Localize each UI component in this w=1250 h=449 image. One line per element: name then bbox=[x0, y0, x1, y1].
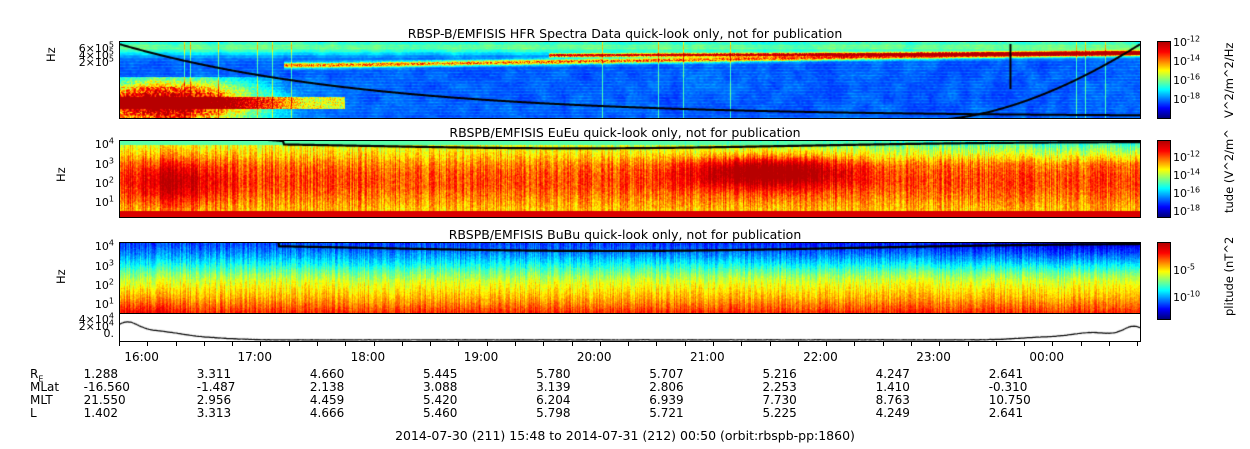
panel-eueu-ytick-0: 104 bbox=[66, 140, 114, 150]
x-tick-label: 20:00 bbox=[560, 350, 628, 364]
ephemeris-cell: 5.445 bbox=[423, 367, 495, 381]
colorbar-eueu-tick-2: 10-16 bbox=[1173, 189, 1217, 199]
ephemeris-cell: 10.750 bbox=[989, 393, 1061, 407]
x-tick-minor bbox=[119, 342, 120, 346]
colorbar-bubu-tick-1: 10-10 bbox=[1173, 293, 1217, 303]
colorbar-bubu bbox=[1157, 242, 1171, 320]
x-tick-label: 16:00 bbox=[108, 350, 176, 364]
ephemeris-cell: 3.139 bbox=[536, 380, 608, 394]
colorbar-hfr-tick-2: 10-16 bbox=[1173, 76, 1217, 86]
x-tick-minor bbox=[741, 342, 742, 346]
x-tick-label: 22:00 bbox=[786, 350, 854, 364]
ephemeris-cell: 5.420 bbox=[423, 393, 495, 407]
x-tick-minor bbox=[458, 342, 459, 346]
colorbar-eueu-tick-3: 10-18 bbox=[1173, 207, 1217, 217]
colorbar-eueu-tick-1: 10-14 bbox=[1173, 171, 1217, 181]
panel-title-bubu: RBSPB/EMFISIS BuBu quick-look only, not … bbox=[0, 227, 1250, 242]
panel-title-hfr: RBSP-B/EMFISIS HFR Spectra Data quick-lo… bbox=[0, 26, 1250, 41]
ephemeris-cell: 4.660 bbox=[310, 367, 382, 381]
panel-bubu-ytick-2: 102 bbox=[66, 281, 114, 291]
ephemeris-cell: 1.410 bbox=[876, 380, 948, 394]
plot-density[interactable] bbox=[119, 313, 1141, 342]
x-tick-minor bbox=[289, 342, 290, 346]
x-tick-minor bbox=[402, 342, 403, 346]
ephemeris-cell: 6.939 bbox=[649, 393, 721, 407]
panel-title-eueu: RBSPB/EMFISIS EuEu quick-look only, not … bbox=[0, 125, 1250, 140]
ephemeris-cell: 5.721 bbox=[649, 406, 721, 420]
ephemeris-cell: 5.780 bbox=[536, 367, 608, 381]
x-tick-label: 19:00 bbox=[447, 350, 515, 364]
colorbar-bubu-tick-0: 10-5 bbox=[1173, 266, 1217, 276]
panel-bubu-ytick-1: 103 bbox=[66, 262, 114, 272]
x-tick-minor bbox=[260, 342, 261, 346]
spectrogram-eueu[interactable] bbox=[119, 140, 1141, 218]
x-tick-label: 23:00 bbox=[900, 350, 968, 364]
colorbar-eueu bbox=[1157, 140, 1171, 218]
x-tick-minor bbox=[430, 342, 431, 346]
figure-caption: 2014-07-30 (211) 15:48 to 2014-07-31 (21… bbox=[0, 428, 1250, 443]
colorbar-hfr-tick-0: 10-12 bbox=[1173, 38, 1217, 48]
ephemeris-cell: 21.550 bbox=[84, 393, 156, 407]
ephemeris-cell: -0.310 bbox=[989, 380, 1061, 394]
ephemeris-cell: 2.806 bbox=[649, 380, 721, 394]
panel-hfr-ytick-2: 2×105 bbox=[56, 58, 114, 68]
colorbar-eueu-tick-0: 10-12 bbox=[1173, 153, 1217, 163]
spectrogram-hfr[interactable] bbox=[119, 41, 1141, 119]
ephemeris-cell: 4.666 bbox=[310, 406, 382, 420]
x-tick-minor bbox=[713, 342, 714, 346]
ephemeris-cell: 2.641 bbox=[989, 367, 1061, 381]
x-tick-minor bbox=[685, 342, 686, 346]
panel-bubu-ytick-3: 101 bbox=[66, 300, 114, 310]
colorbar-hfr-tick-3: 10-18 bbox=[1173, 95, 1217, 105]
x-tick-minor bbox=[345, 342, 346, 346]
x-tick-minor bbox=[770, 342, 771, 346]
ephemeris-cell: -16.560 bbox=[84, 380, 156, 394]
ephemeris-cell: 3.313 bbox=[197, 406, 269, 420]
x-tick-minor bbox=[883, 342, 884, 346]
x-tick-minor bbox=[147, 342, 148, 346]
x-tick-minor bbox=[854, 342, 855, 346]
x-tick-minor bbox=[1024, 342, 1025, 346]
x-tick-minor bbox=[1109, 342, 1110, 346]
x-tick-minor bbox=[996, 342, 997, 346]
panel-eueu-ytick-3: 101 bbox=[66, 198, 114, 208]
x-tick-label: 00:00 bbox=[1013, 350, 1081, 364]
x-tick-minor bbox=[572, 342, 573, 346]
x-tick-minor bbox=[232, 342, 233, 346]
x-tick-label: 17:00 bbox=[221, 350, 289, 364]
ephemeris-cell: 5.225 bbox=[762, 406, 834, 420]
ephemeris-cell: 6.204 bbox=[536, 393, 608, 407]
ephemeris-cell: 2.253 bbox=[762, 380, 834, 394]
colorbar-hfr-tick-1: 10-14 bbox=[1173, 57, 1217, 67]
x-tick-minor bbox=[1081, 342, 1082, 346]
ephemeris-cell: 5.798 bbox=[536, 406, 608, 420]
x-tick-minor bbox=[204, 342, 205, 346]
ephemeris-cell: 1.402 bbox=[84, 406, 156, 420]
x-tick-minor bbox=[374, 342, 375, 346]
x-tick-minor bbox=[826, 342, 827, 346]
panel-bubu-ytick-0: 104 bbox=[66, 242, 114, 252]
ephemeris-cell: 1.288 bbox=[84, 367, 156, 381]
x-tick-minor bbox=[176, 342, 177, 346]
x-tick-minor bbox=[317, 342, 318, 346]
ephemeris-cell: 5.707 bbox=[649, 367, 721, 381]
x-tick-minor bbox=[515, 342, 516, 346]
colorbar-hfr bbox=[1157, 41, 1171, 119]
ephemeris-cell: 3.311 bbox=[197, 367, 269, 381]
ephemeris-cell: 2.641 bbox=[989, 406, 1061, 420]
ephemeris-cell: 4.249 bbox=[876, 406, 948, 420]
ephemeris-cell: 4.247 bbox=[876, 367, 948, 381]
panel-eueu-ytick-1: 103 bbox=[66, 160, 114, 170]
ephemeris-cell: 5.216 bbox=[762, 367, 834, 381]
x-tick-minor bbox=[968, 342, 969, 346]
x-tick-minor bbox=[487, 342, 488, 346]
x-tick-label: 18:00 bbox=[334, 350, 402, 364]
x-tick-minor bbox=[543, 342, 544, 346]
x-tick-minor bbox=[911, 342, 912, 346]
x-tick-minor bbox=[656, 342, 657, 346]
x-tick-minor bbox=[1052, 342, 1053, 346]
ephemeris-cell: 7.730 bbox=[762, 393, 834, 407]
ephemeris-cell: 2.138 bbox=[310, 380, 382, 394]
ephemeris-cell: 3.088 bbox=[423, 380, 495, 394]
ephemeris-cell: 2.956 bbox=[197, 393, 269, 407]
x-tick-label: 21:00 bbox=[673, 350, 741, 364]
x-tick-minor bbox=[798, 342, 799, 346]
ephemeris-cell: -1.487 bbox=[197, 380, 269, 394]
x-tick-minor bbox=[939, 342, 940, 346]
x-tick-minor bbox=[600, 342, 601, 346]
ephemeris-cell: 8.763 bbox=[876, 393, 948, 407]
ephemeris-cell: 4.459 bbox=[310, 393, 382, 407]
x-tick-minor bbox=[628, 342, 629, 346]
x-tick-minor bbox=[1137, 342, 1138, 346]
spectrogram-bubu[interactable] bbox=[119, 242, 1141, 320]
ephemeris-cell: 5.460 bbox=[423, 406, 495, 420]
panel-density-ytick-2: 0. bbox=[56, 329, 114, 339]
panel-eueu-ytick-2: 102 bbox=[66, 179, 114, 189]
